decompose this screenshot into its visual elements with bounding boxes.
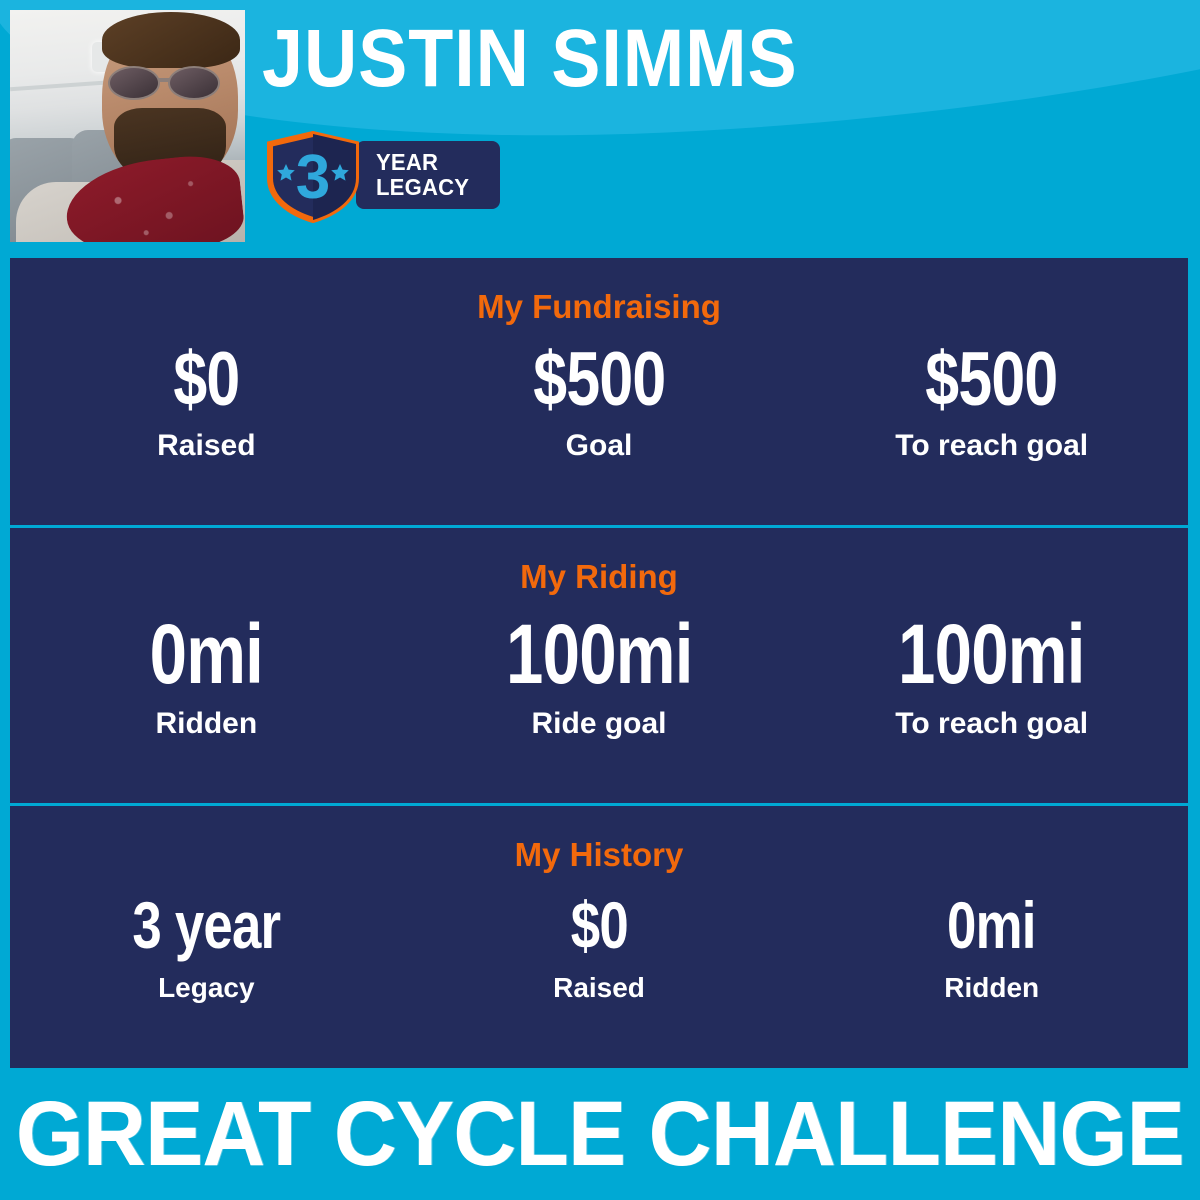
- stat-ridden-label: Ridden: [10, 707, 403, 741]
- page-title: JUSTIN SIMMS: [262, 18, 798, 100]
- stat-row-fundraising: $0 Raised $500 Goal $500 To reach goal: [10, 323, 1188, 463]
- legacy-badge-plate: YEAR LEGACY: [356, 141, 500, 209]
- profile-photo: [10, 10, 245, 242]
- shield-icon: 3: [264, 131, 362, 223]
- stat-row-riding: 0mi Ridden 100mi Ride goal 100mi To reac…: [10, 593, 1188, 741]
- stat-fundraising-remaining-label: To reach goal: [795, 429, 1188, 463]
- stats-panel: My Fundraising $0 Raised $500 Goal $500 …: [10, 258, 1188, 1068]
- legacy-badge: YEAR LEGACY 3: [264, 131, 500, 223]
- section-title-fundraising: My Fundraising: [10, 258, 1188, 323]
- avatar: [10, 10, 245, 242]
- stat-fundraising-remaining: $500 To reach goal: [795, 337, 1188, 463]
- stat-legacy-label: Legacy: [10, 971, 403, 1005]
- stat-row-history: 3 year Legacy $0 Raised 0mi Ridden: [10, 871, 1188, 1005]
- stat-history-ridden-label: Ridden: [795, 971, 1188, 1005]
- stat-history-ridden: 0mi Ridden: [795, 885, 1188, 1005]
- stat-ride-remaining-label: To reach goal: [795, 707, 1188, 741]
- legacy-badge-line2: LEGACY: [376, 175, 495, 200]
- stat-ride-goal: 100mi Ride goal: [403, 607, 796, 741]
- stat-fundraising-goal: $500 Goal: [403, 337, 796, 463]
- stat-legacy-value: 3 year: [49, 885, 363, 965]
- stat-ride-goal-value: 100mi: [442, 607, 756, 701]
- stat-ride-goal-label: Ride goal: [403, 707, 796, 741]
- legacy-badge-years: 3: [296, 143, 330, 212]
- section-fundraising: My Fundraising $0 Raised $500 Goal $500 …: [10, 258, 1188, 525]
- stat-fundraising-goal-label: Goal: [403, 429, 796, 463]
- poster-header: JUSTIN SIMMS YEAR LEGACY 3: [0, 0, 1200, 258]
- stat-ridden-value: 0mi: [49, 607, 363, 701]
- stat-history-raised-value: $0: [442, 885, 756, 965]
- section-title-history: My History: [10, 806, 1188, 871]
- section-riding: My Riding 0mi Ridden 100mi Ride goal 100…: [10, 528, 1188, 803]
- stat-legacy: 3 year Legacy: [10, 885, 403, 1005]
- stat-history-raised-label: Raised: [403, 971, 796, 1005]
- stat-history-raised: $0 Raised: [403, 885, 796, 1005]
- section-title-riding: My Riding: [10, 528, 1188, 593]
- fundraiser-stats-poster: JUSTIN SIMMS YEAR LEGACY 3 My Fundraisin…: [0, 0, 1200, 1200]
- stat-raised-value: $0: [49, 337, 363, 423]
- poster-footer: GREAT CYCLE CHALLENGE: [0, 1068, 1200, 1200]
- stat-ride-remaining-value: 100mi: [835, 607, 1149, 701]
- stat-history-ridden-value: 0mi: [835, 885, 1149, 965]
- section-history: My History 3 year Legacy $0 Raised 0mi R…: [10, 806, 1188, 1074]
- stat-ride-remaining: 100mi To reach goal: [795, 607, 1188, 741]
- brand-wordmark: GREAT CYCLE CHALLENGE: [16, 1088, 1184, 1180]
- stat-raised-label: Raised: [10, 429, 403, 463]
- stat-raised: $0 Raised: [10, 337, 403, 463]
- stat-fundraising-goal-value: $500: [442, 337, 756, 423]
- stat-ridden: 0mi Ridden: [10, 607, 403, 741]
- stat-fundraising-remaining-value: $500: [835, 337, 1149, 423]
- legacy-badge-line1: YEAR: [376, 150, 495, 175]
